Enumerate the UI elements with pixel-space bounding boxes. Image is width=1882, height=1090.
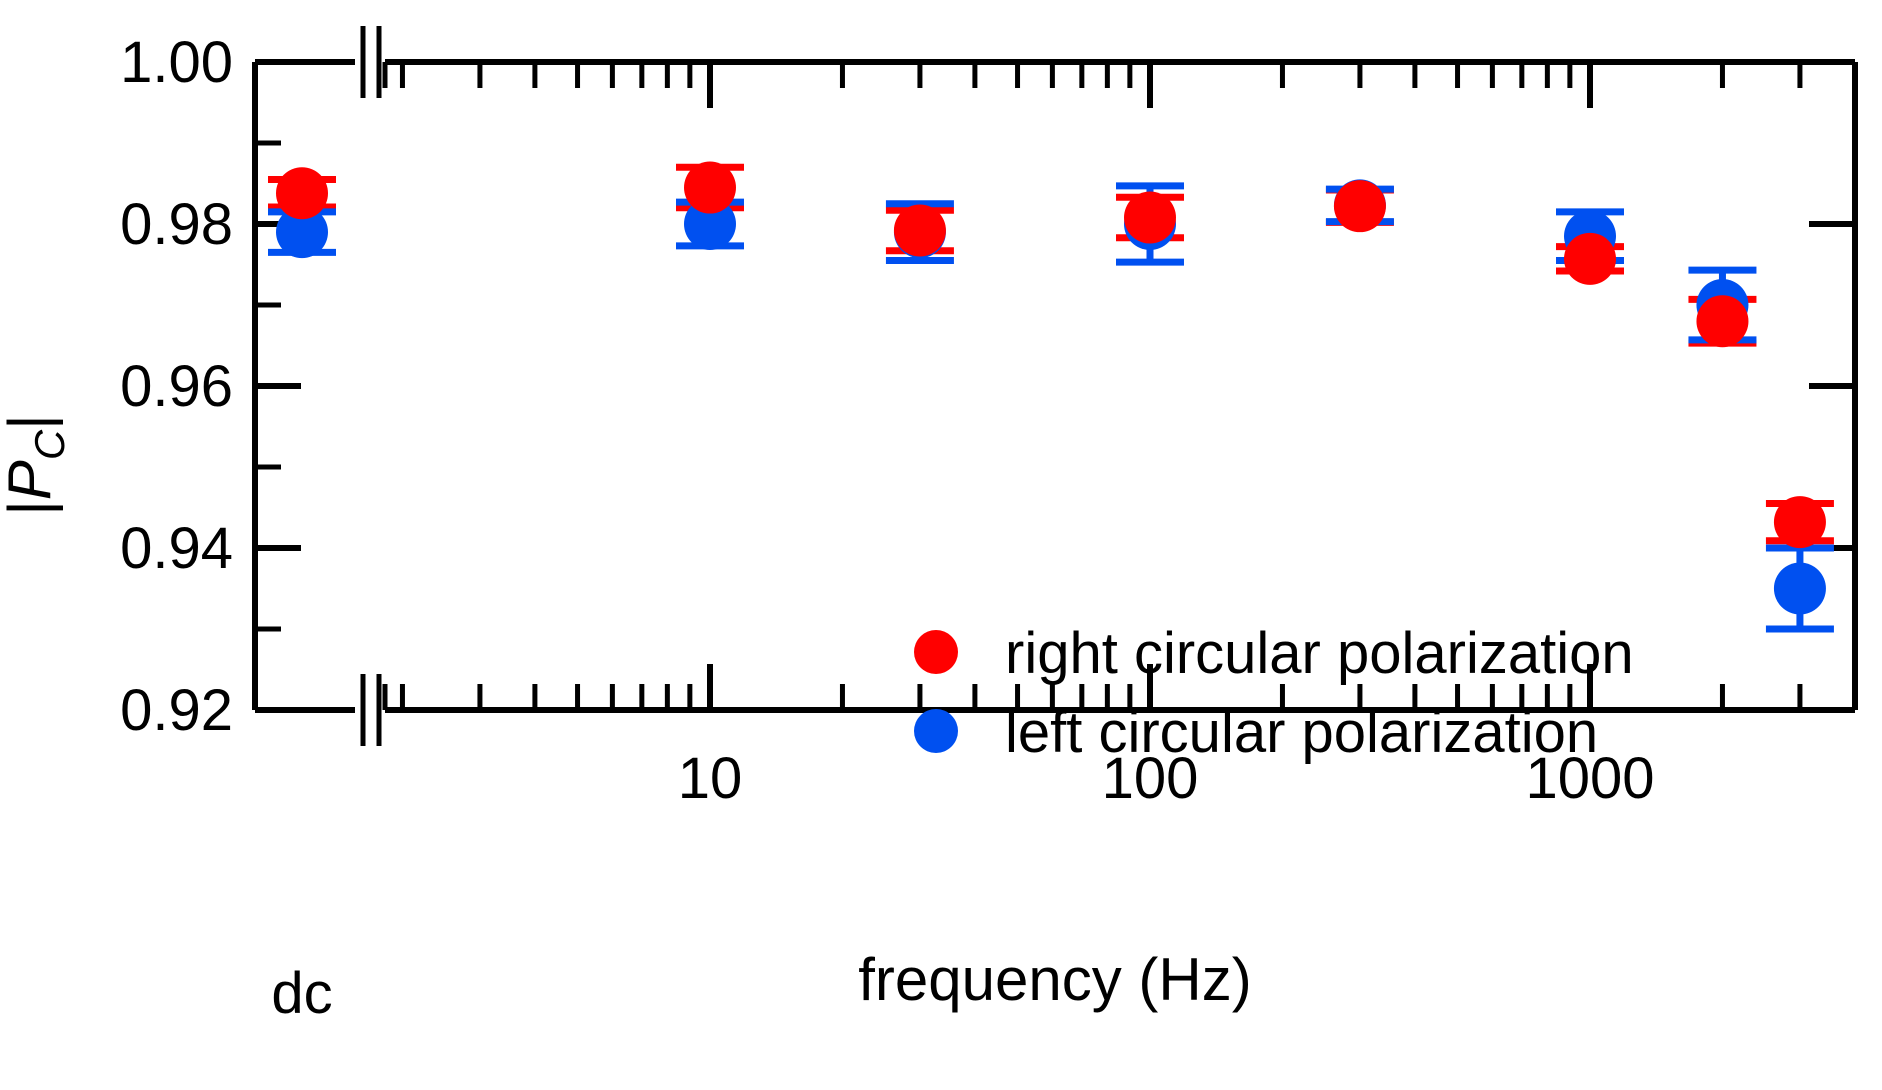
- data-point-marker: [1124, 192, 1176, 244]
- legend-swatch-right-circular: [914, 630, 958, 674]
- y-tick-label: 0.94: [120, 516, 233, 581]
- legend-swatch-left-circular: [914, 709, 958, 753]
- data-point-marker: [1774, 563, 1826, 615]
- y-tick-label: 1.00: [120, 30, 233, 95]
- legend-label-right-circular: right circular polarization: [1005, 621, 1634, 686]
- x-axis-title: frequency (Hz): [858, 946, 1251, 1013]
- legend: right circular polarization left circula…: [914, 621, 1634, 765]
- y-axis-title: |PC|: [0, 414, 73, 516]
- y-tick-labels: 1.000.980.960.940.92: [120, 30, 233, 743]
- dc-tick-label: dc: [271, 961, 332, 1026]
- y-axis-title-bar-right: |: [0, 414, 63, 430]
- y-tick-label: 0.98: [120, 192, 233, 257]
- y-tick-label: 0.96: [120, 354, 233, 419]
- y-axis-title-subscript: C: [26, 429, 73, 460]
- svg-text:|PC|: |PC|: [0, 414, 73, 516]
- figure-container: 1.000.980.960.940.92 101001000 |PC| freq…: [0, 0, 1882, 1090]
- y-axis: [255, 62, 1855, 710]
- chart-svg: 1.000.980.960.940.92 101001000 |PC| freq…: [0, 0, 1882, 1090]
- data-point-marker: [1564, 233, 1616, 285]
- data-point-marker: [684, 162, 736, 214]
- y-tick-label: 0.92: [120, 678, 233, 743]
- data-point-marker: [894, 204, 946, 256]
- data-point-marker: [1774, 496, 1826, 548]
- axis-break-marks: [363, 26, 379, 746]
- legend-label-left-circular: left circular polarization: [1005, 700, 1598, 765]
- data-points: [276, 162, 1826, 615]
- x-axis: [255, 62, 1855, 710]
- y-axis-title-p: P: [0, 460, 63, 500]
- data-point-marker: [276, 167, 328, 219]
- y-axis-title-bar-left: |: [0, 500, 63, 516]
- x-tick-label: 10: [678, 746, 743, 811]
- data-point-marker: [1334, 180, 1386, 232]
- data-point-marker: [1696, 295, 1748, 347]
